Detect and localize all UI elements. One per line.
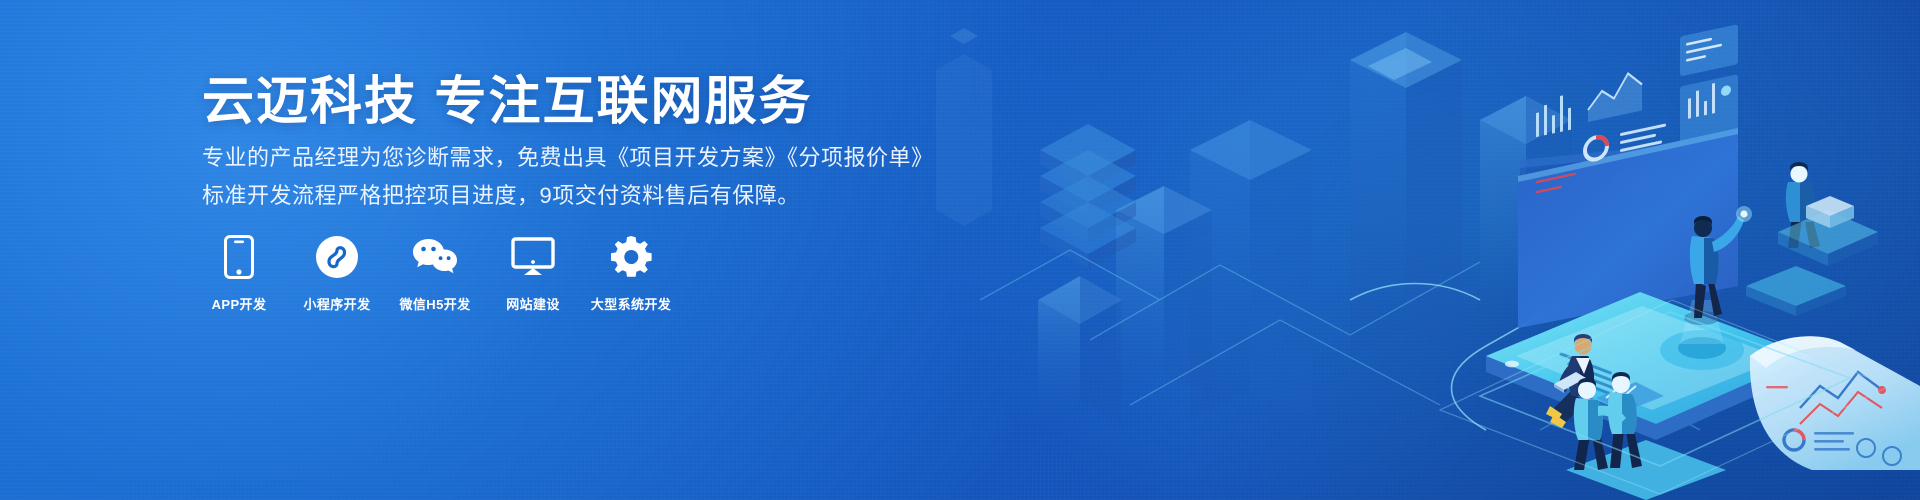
hero-illustration xyxy=(920,0,1920,500)
page-title: 云迈科技 专注互联网服务 xyxy=(202,72,812,133)
feature-label-wechat: 微信H5开发 xyxy=(399,294,470,313)
mini-program-icon xyxy=(314,234,360,280)
circuit-lines xyxy=(980,250,1700,430)
background-glow-bottom-right xyxy=(1140,0,1920,500)
person-group xyxy=(1566,372,1726,500)
subtitle-line-2: 标准开发流程严格把控项目进度，9项交付资料售后有保障。 xyxy=(202,185,800,207)
tablet-platform xyxy=(1486,292,1810,440)
feature-label-app: APP开发 xyxy=(212,294,267,313)
hero-banner: 云迈科技 专注互联网服务 专业的产品经理为您诊断需求，免费出具《项目开发方案》《… xyxy=(0,0,1920,500)
feature-label-website: 网站建设 xyxy=(506,294,560,313)
mobile-phone-icon xyxy=(216,234,262,280)
feature-item-app[interactable]: APP开发 xyxy=(202,234,276,313)
wechat-icon xyxy=(412,234,458,280)
city-buildings xyxy=(936,28,1688,424)
subtitle-line-1: 专业的产品经理为您诊断需求，免费出具《项目开发方案》《分项报价单》 xyxy=(202,147,934,169)
feature-label-system: 大型系统开发 xyxy=(591,294,671,313)
feature-item-wechat[interactable]: 微信H5开发 xyxy=(398,234,472,313)
service-feature-list: APP开发 小程序开发 xyxy=(202,234,692,313)
banner-content: 云迈科技 专注互联网服务 专业的产品经理为您诊断需求，免费出具《项目开发方案》《… xyxy=(202,0,962,500)
floor-frame xyxy=(1480,312,1850,466)
gear-icon xyxy=(608,234,654,280)
feature-item-miniprogram[interactable]: 小程序开发 xyxy=(300,234,374,313)
person-standing xyxy=(1684,206,1752,325)
server-stack xyxy=(1040,124,1136,268)
data-report-sheet xyxy=(1750,336,1920,470)
monitor-icon xyxy=(510,234,556,280)
person-right xyxy=(1746,162,1846,316)
feature-item-system[interactable]: 大型系统开发 xyxy=(594,234,668,313)
person-sitting xyxy=(1546,334,1602,428)
feature-label-miniprogram: 小程序开发 xyxy=(303,294,370,313)
floating-mini-card xyxy=(1596,382,1664,412)
feature-item-website[interactable]: 网站建设 xyxy=(496,234,570,313)
box-platform xyxy=(1778,196,1878,266)
dashboard-screen xyxy=(1518,24,1738,328)
